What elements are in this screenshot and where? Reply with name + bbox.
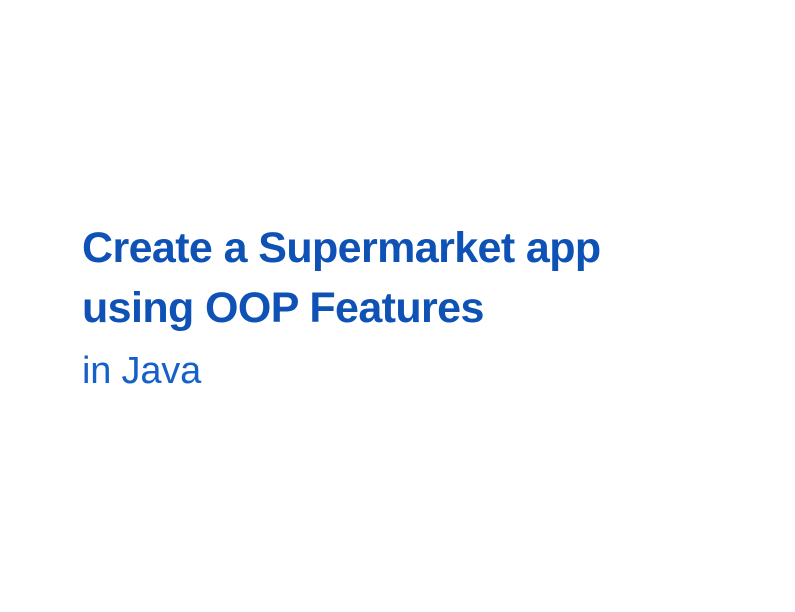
title-block: Create a Supermarket app using OOP Featu…: [82, 218, 722, 396]
title-line-2: using OOP Features: [82, 278, 722, 338]
title-slide: Create a Supermarket app using OOP Featu…: [0, 0, 795, 612]
title-line-1: Create a Supermarket app: [82, 218, 722, 278]
subtitle-line: in Java: [82, 346, 722, 396]
